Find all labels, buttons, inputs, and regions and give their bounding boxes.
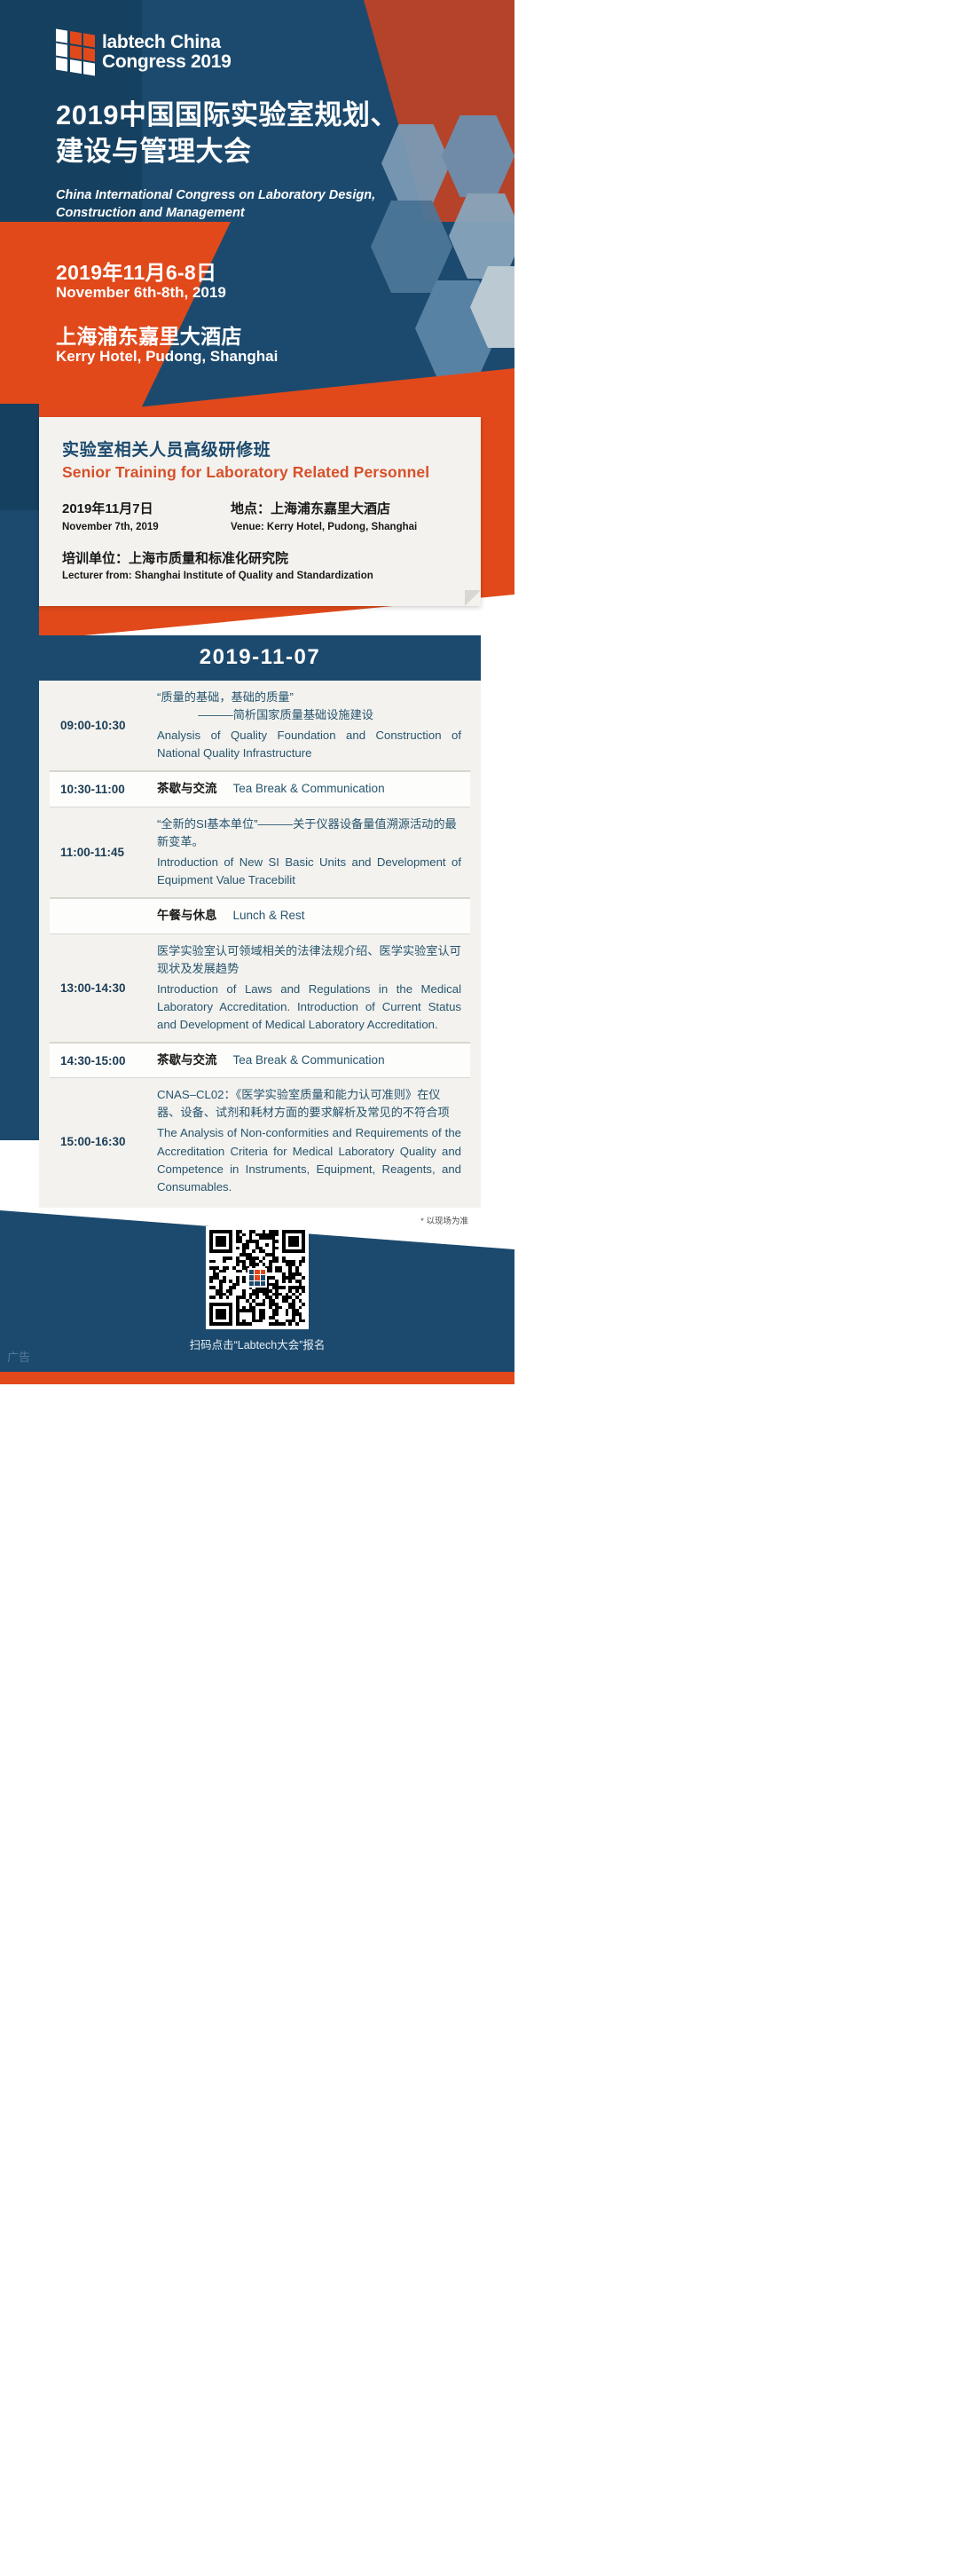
schedule-cn-text: 午餐与休息	[157, 909, 217, 922]
title-en-line-1: China International Congress on Laborato…	[56, 186, 428, 204]
ad-label: 广告	[7, 1348, 30, 1365]
qr-center-logo-icon	[247, 1268, 267, 1288]
event-venue-en: Kerry Hotel, Pudong, Shanghai	[56, 348, 278, 366]
schedule-en-text: Tea Break & Communication	[233, 1053, 385, 1067]
logo-cell	[56, 29, 67, 43]
table-row: 15:00-16:30CNAS–CL02：《医学实验室质量和能力认可准则》在仪器…	[50, 1078, 470, 1203]
logo-cell	[83, 33, 95, 47]
schedule-time-cell: 10:30-11:00	[50, 776, 152, 803]
event-date-cn: 2019年11月6-8日	[56, 256, 216, 286]
schedule-en-text: Lunch & Rest	[233, 909, 305, 922]
training-venue-block: 地点：上海浦东嘉里大酒店 Venue: Kerry Hotel, Pudong,…	[231, 500, 417, 535]
title-cn-line-1: 2019中国国际实验室规划、	[56, 98, 428, 134]
title-en-line-2: Construction and Management	[56, 204, 428, 222]
logo-line-2: Congress 2019	[102, 52, 232, 72]
event-venue-cn: 上海浦东嘉里大酒店	[56, 319, 242, 350]
hero-banner: labtech China Congress 2019 2019中国国际实验室规…	[0, 0, 514, 417]
event-date-en: November 6th-8th, 2019	[56, 284, 226, 302]
table-row: 13:00-14:30医学实验室认可领域相关的法律法规介绍、医学实验室认可现状及…	[50, 934, 470, 1043]
table-row: 10:30-11:00茶歇与交流Tea Break & Communicatio…	[50, 771, 470, 807]
training-lecturer-cn: 培训单位：上海市质量和标准化研究院	[62, 549, 458, 570]
schedule-cn-text: “质量的基础，基础的质量”	[157, 689, 461, 706]
photo-hex-4	[449, 193, 514, 279]
qr-module	[302, 1322, 305, 1326]
schedule-en-text: Tea Break & Communication	[233, 782, 385, 795]
qr-matrix	[209, 1230, 305, 1326]
schedule-content-cell: 茶歇与交流Tea Break & Communication	[152, 1044, 470, 1078]
logo-line-1: labtech China	[102, 33, 232, 52]
schedule-cn-text: CNAS–CL02：《医学实验室质量和能力认可准则》在仪器、设备、试剂和耗材方面…	[157, 1086, 461, 1122]
schedule-cn-text: 茶歇与交流	[157, 1053, 217, 1067]
training-date-venue-row: 2019年11月7日 November 7th, 2019 地点：上海浦东嘉里大…	[62, 500, 458, 535]
schedule-table: 09:00-10:30“质量的基础，基础的质量”———简析国家质量基础设施建设A…	[39, 681, 481, 1208]
schedule-cn-text: “全新的SI基本单位”———关于仪器设备量值溯源活动的最新变革。	[157, 815, 461, 851]
footer-orange-bar	[0, 1372, 514, 1384]
schedule-cn-text: 茶歇与交流	[157, 782, 217, 795]
registration-qr-code[interactable]	[206, 1226, 309, 1329]
schedule-time-cell	[50, 909, 152, 923]
schedule-section: 2019-11-07 09:00-10:30“质量的基础，基础的质量”———简析…	[39, 635, 481, 1226]
training-date-en: November 7th, 2019	[62, 520, 231, 535]
brand-logo: labtech China Congress 2019	[56, 32, 232, 73]
brand-logo-text: labtech China Congress 2019	[102, 33, 232, 73]
schedule-content-cell: “质量的基础，基础的质量”———简析国家质量基础设施建设Analysis of …	[152, 681, 470, 770]
training-lecturer-block: 培训单位：上海市质量和标准化研究院 Lecturer from: Shangha…	[62, 549, 458, 585]
schedule-time-cell: 13:00-14:30	[50, 974, 152, 1002]
schedule-cn-text: 医学实验室认可领域相关的法律法规介绍、医学实验室认可现状及发展趋势	[157, 942, 461, 978]
logo-cell	[56, 58, 67, 72]
photo-hex-2	[442, 115, 514, 197]
schedule-en-text: Analysis of Quality Foundation and Const…	[157, 727, 461, 762]
logo-cell	[83, 48, 95, 62]
schedule-content-cell: 午餐与休息Lunch & Rest	[152, 899, 470, 934]
left-blue-strip-dark	[0, 404, 39, 510]
conference-poster: labtech China Congress 2019 2019中国国际实验室规…	[0, 0, 514, 1384]
qr-caption: 扫码点击“Labtech大会”报名	[0, 1335, 514, 1352]
schedule-content-cell: “全新的SI基本单位”———关于仪器设备量值溯源活动的最新变革。Introduc…	[152, 807, 470, 897]
page-title: 2019中国国际实验室规划、 建设与管理大会	[56, 98, 428, 170]
training-title-cn: 实验室相关人员高级研修班	[62, 437, 458, 461]
logo-cell	[70, 31, 82, 45]
schedule-content-cell: 医学实验室认可领域相关的法律法规介绍、医学实验室认可现状及发展趋势Introdu…	[152, 934, 470, 1042]
training-card: 实验室相关人员高级研修班 Senior Training for Laborat…	[39, 417, 481, 606]
table-row: 14:30-15:00茶歇与交流Tea Break & Communicatio…	[50, 1043, 470, 1079]
schedule-time-cell: 09:00-10:30	[50, 712, 152, 739]
schedule-en-text: The Analysis of Non-conformities and Req…	[157, 1124, 461, 1195]
training-lecturer-en: Lecturer from: Shanghai Institute of Qua…	[62, 569, 458, 584]
page-subtitle: China International Congress on Laborato…	[56, 186, 428, 222]
schedule-time-cell: 11:00-11:45	[50, 839, 152, 866]
poster-footer: 扫码点击“Labtech大会”报名 广告	[0, 1198, 514, 1384]
logo-cell	[70, 45, 82, 59]
table-row: 09:00-10:30“质量的基础，基础的质量”———简析国家质量基础设施建设A…	[50, 681, 470, 771]
schedule-cn-text: ———简析国家质量基础设施建设	[157, 706, 461, 724]
schedule-time-cell: 14:30-15:00	[50, 1047, 152, 1075]
training-venue-en: Venue: Kerry Hotel, Pudong, Shanghai	[231, 520, 417, 535]
schedule-date-header: 2019-11-07	[39, 635, 481, 681]
table-row: 11:00-11:45“全新的SI基本单位”———关于仪器设备量值溯源活动的最新…	[50, 807, 470, 898]
logo-cell	[83, 62, 95, 76]
labtech-logo-icon	[56, 29, 95, 76]
training-date-cn: 2019年11月7日	[62, 500, 231, 520]
left-blue-strip	[0, 404, 39, 1140]
schedule-content-cell: 茶歇与交流Tea Break & Communication	[152, 772, 470, 807]
training-title-en: Senior Training for Laboratory Related P…	[62, 463, 458, 482]
logo-cell	[70, 59, 82, 74]
table-row: 午餐与休息Lunch & Rest	[50, 898, 470, 934]
training-date-block: 2019年11月7日 November 7th, 2019	[62, 500, 231, 535]
logo-cell	[56, 43, 67, 58]
schedule-en-text: Introduction of Laws and Regulations in …	[157, 981, 461, 1034]
title-cn-line-2: 建设与管理大会	[56, 134, 428, 170]
training-venue-cn: 地点：上海浦东嘉里大酒店	[231, 500, 417, 520]
schedule-en-text: Introduction of New SI Basic Units and D…	[157, 854, 461, 889]
schedule-time-cell: 15:00-16:30	[50, 1128, 152, 1155]
schedule-content-cell: CNAS–CL02：《医学实验室质量和能力认可准则》在仪器、设备、试剂和耗材方面…	[152, 1078, 470, 1203]
